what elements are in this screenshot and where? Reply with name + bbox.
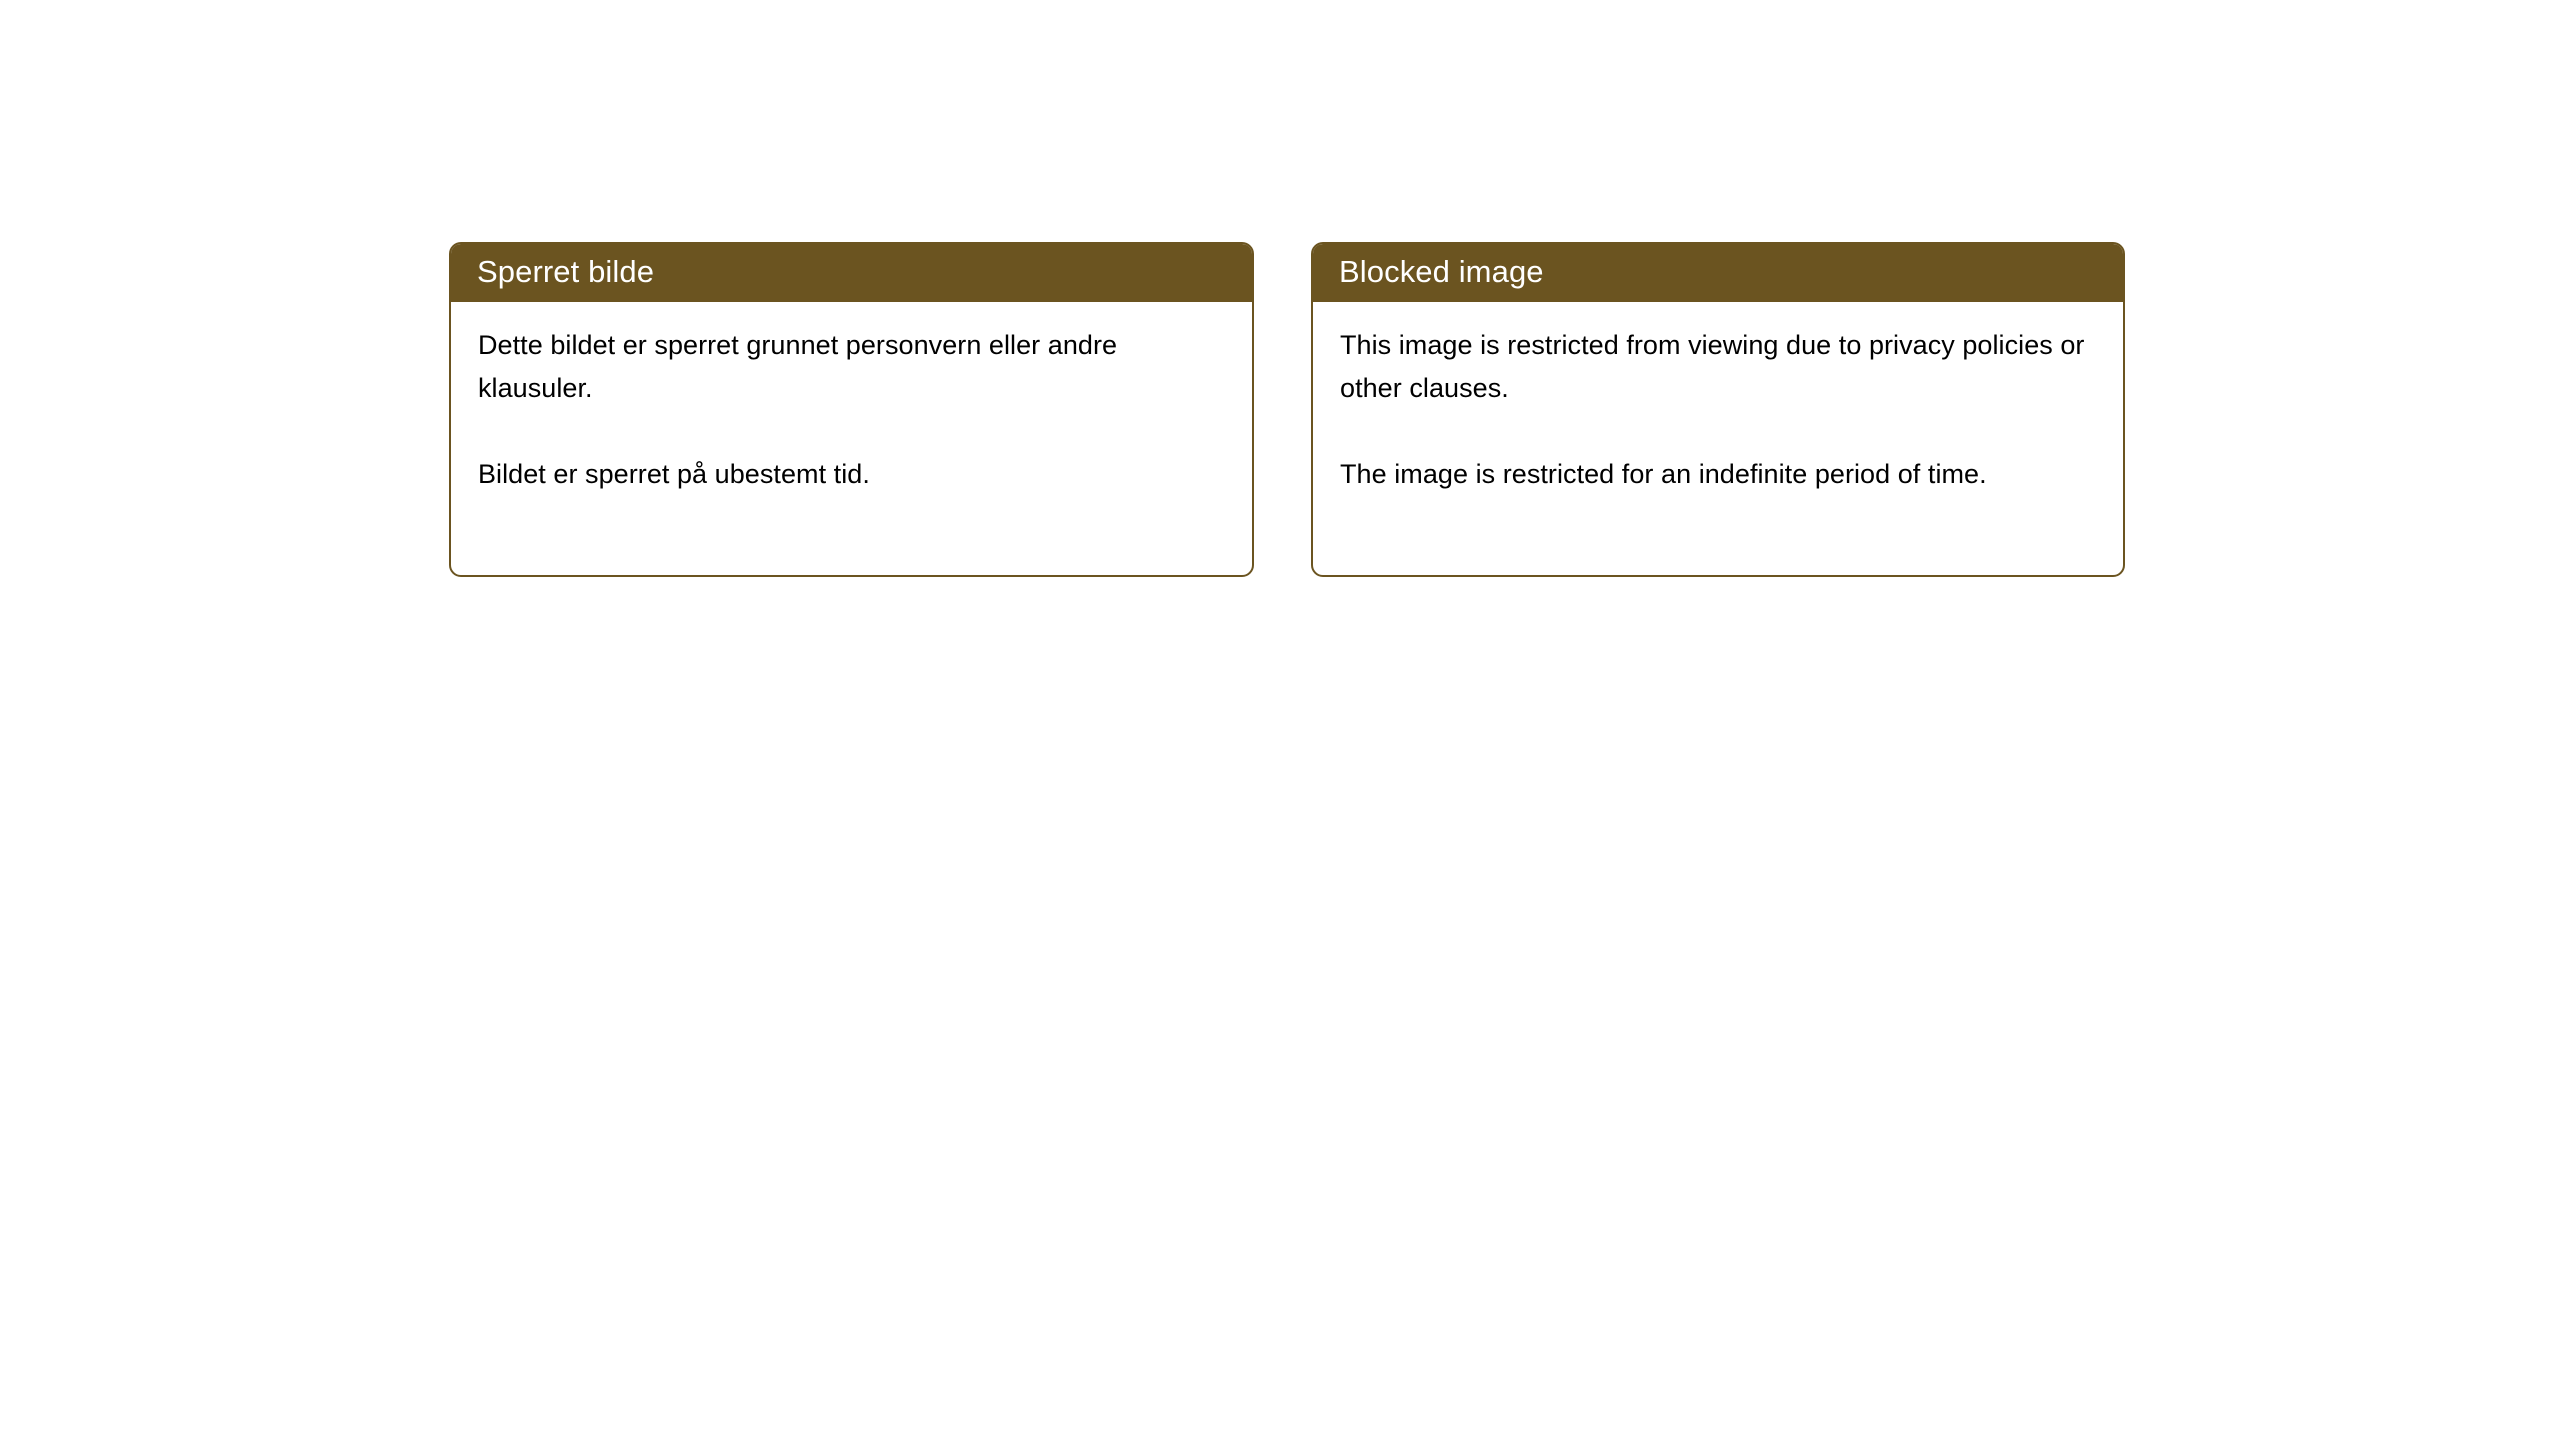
blocked-image-notice-card-english: Blocked image This image is restricted f…	[1311, 242, 2125, 577]
card-title-english: Blocked image	[1339, 255, 1544, 289]
card-body-norwegian: Dette bildet er sperret grunnet personve…	[451, 302, 1252, 496]
card-paragraph-reason-norwegian: Dette bildet er sperret grunnet personve…	[478, 324, 1226, 410]
card-body-english: This image is restricted from viewing du…	[1313, 302, 2123, 496]
card-paragraph-duration-english: The image is restricted for an indefinit…	[1340, 453, 2097, 496]
card-paragraph-reason-english: This image is restricted from viewing du…	[1340, 324, 2097, 410]
card-header-norwegian: Sperret bilde	[449, 242, 1254, 302]
paragraph-spacer	[1340, 410, 2097, 453]
blocked-image-notice-card-norwegian: Sperret bilde Dette bildet er sperret gr…	[449, 242, 1254, 577]
card-header-english: Blocked image	[1311, 242, 2125, 302]
page-canvas: Sperret bilde Dette bildet er sperret gr…	[0, 0, 2560, 1440]
card-paragraph-duration-norwegian: Bildet er sperret på ubestemt tid.	[478, 453, 1226, 496]
paragraph-spacer	[478, 410, 1226, 453]
card-title-norwegian: Sperret bilde	[477, 255, 654, 289]
